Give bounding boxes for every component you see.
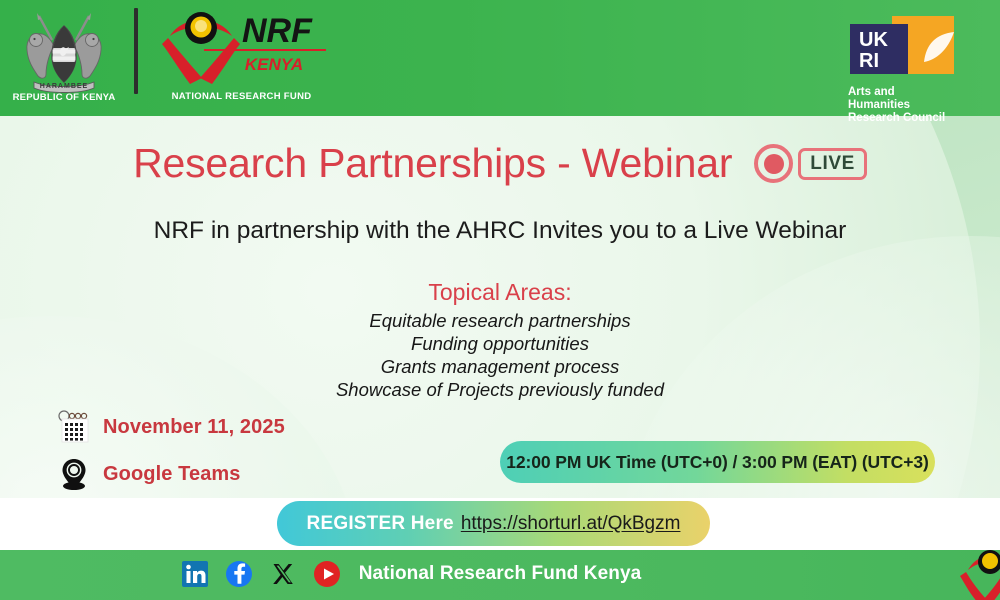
location-pin-icon <box>58 457 90 491</box>
event-date: November 11, 2025 <box>103 416 285 439</box>
ukri-caption-line-3: Research Council <box>848 112 988 125</box>
event-venue-row: Google Teams <box>58 457 285 491</box>
nrf-logo-caption: NATIONAL RESEARCH FUND <box>154 91 329 102</box>
webinar-poster: HARAMBEE REPUBLIC OF KENYA <box>0 0 1000 600</box>
calendar-icon <box>58 410 90 444</box>
event-venue: Google Teams <box>103 463 241 486</box>
ukri-logo-caption: Arts and Humanities Research Council <box>848 86 988 126</box>
list-item: Grants management process <box>0 355 1000 378</box>
poster-header: HARAMBEE REPUBLIC OF KENYA <box>0 0 1000 116</box>
title-row: Research Partnerships - Webinar LIVE <box>0 140 1000 187</box>
poster-body: Research Partnerships - Webinar LIVE NRF… <box>0 116 1000 498</box>
svg-text:KENYA: KENYA <box>245 55 303 74</box>
coat-of-arms-block: HARAMBEE REPUBLIC OF KENYA <box>8 6 120 103</box>
list-item: Showcase of Projects previously funded <box>0 378 1000 401</box>
page-title: Research Partnerships - Webinar <box>133 140 732 187</box>
ukri-logo-icon: UK RI <box>848 14 956 80</box>
nrf-kenya-logo-icon: NRF KENYA <box>154 6 329 92</box>
event-meta-block: November 11, 2025 Google Teams <box>58 410 285 498</box>
poster-content: Research Partnerships - Webinar LIVE NRF… <box>0 116 1000 498</box>
list-item: Funding opportunities <box>0 332 1000 355</box>
list-item: Equitable research partnerships <box>0 309 1000 332</box>
nrf-logo-block: NRF KENYA NATIONAL RESEARCH FUND <box>154 6 329 102</box>
header-logos-left: HARAMBEE REPUBLIC OF KENYA <box>8 6 329 103</box>
register-link[interactable]: https://shorturl.at/QkBgzm <box>461 513 681 535</box>
live-record-icon <box>754 144 793 183</box>
status-badge: LIVE <box>754 144 867 183</box>
live-badge-label: LIVE <box>798 148 867 180</box>
ukri-caption-line-1: Arts and <box>848 86 988 99</box>
ukri-logo-block: UK RI Arts and Humanities Research Counc… <box>848 14 988 126</box>
page-subtitle: NRF in partnership with the AHRC Invites… <box>0 217 1000 245</box>
nrf-logo-watermark-icon <box>960 550 1000 600</box>
svg-text:UK: UK <box>859 29 888 51</box>
svg-text:NRF: NRF <box>242 12 313 50</box>
kenya-coat-of-arms-icon: HARAMBEE <box>8 6 120 94</box>
ukri-caption-line-2: Humanities <box>848 99 988 112</box>
topical-areas-list: Equitable research partnerships Funding … <box>0 309 1000 401</box>
register-label: REGISTER Here <box>307 513 454 535</box>
event-time-badge: 12:00 PM UK Time (UTC+0) / 3:00 PM (EAT)… <box>500 441 935 483</box>
header-divider <box>134 8 138 94</box>
footer-title: National Research Fund Kenya <box>0 563 1000 585</box>
register-button[interactable]: REGISTER Here https://shorturl.at/QkBgzm <box>277 501 710 546</box>
event-date-row: November 11, 2025 <box>58 410 285 444</box>
topical-areas-heading: Topical Areas: <box>0 279 1000 306</box>
svg-text:RI: RI <box>859 50 879 72</box>
svg-text:HARAMBEE: HARAMBEE <box>40 83 88 90</box>
poster-footer: National Research Fund Kenya <box>0 550 1000 600</box>
